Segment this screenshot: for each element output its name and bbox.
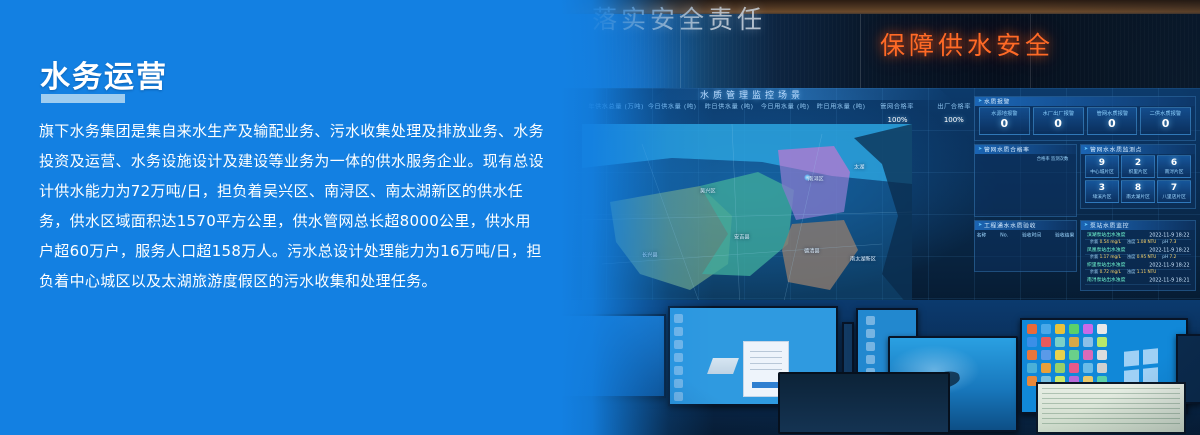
log-time: 2022-11-9 18:22: [1149, 247, 1189, 253]
log-metric: 浊度 1.08 NTU: [1127, 239, 1157, 245]
kpi-item: 今日供水量 (吨): [646, 104, 698, 124]
led-slogan-right: 保障供水安全: [880, 26, 1054, 62]
app-icon: [1069, 337, 1079, 347]
log-time: 2022-11-9 18:22: [1149, 232, 1189, 238]
point-label: 八里店片区: [1155, 193, 1193, 200]
app-icon: [674, 379, 683, 388]
log-metric: 余氯 0.72 mg/L: [1090, 269, 1121, 275]
dashboard-panel-stack: ➤ 水质报警 水源地报警 0 水厂出厂报警 0 管网水质报警: [974, 96, 1196, 291]
alarm-card[interactable]: 水厂出厂报警 0: [1033, 107, 1084, 135]
panel-header: ➤ 管网水质合格率: [975, 145, 1076, 154]
column-header: 验收时间: [1022, 232, 1041, 239]
title-underline-rule: [41, 94, 125, 103]
app-icon: [866, 329, 875, 338]
laptop-spreadsheet-screen: [1036, 382, 1186, 434]
page-title: 水务运营: [40, 52, 168, 96]
app-icon: [1097, 337, 1107, 347]
point-label: 南太湖片区: [1119, 193, 1157, 200]
folder-icon: [707, 358, 739, 374]
panel-column-left: ➤ 管网水质合格率 合格率 监测次数: [974, 144, 1077, 217]
app-icon: [1083, 337, 1093, 347]
app-icon: [1069, 324, 1079, 334]
description-text: 旗下水务集团是集自来水生产及输配业务、污水收集处理及排放业务、水务投资及运营、水…: [39, 116, 544, 296]
kpi-value: 100%: [928, 116, 980, 124]
log-name: 滨湖泵站出水浊度: [1087, 231, 1125, 238]
log-metric: pH 7.3: [1162, 239, 1176, 245]
map-label-region: 吴兴区: [700, 187, 716, 195]
map-label-region: 安吉县: [734, 233, 750, 241]
app-icon: [1069, 363, 1079, 373]
app-icon: [674, 353, 683, 362]
point-count: 6: [1158, 158, 1190, 169]
map-label-region: 南太湖新区: [850, 255, 876, 263]
app-icon: [674, 314, 683, 323]
app-icon: [866, 355, 875, 364]
monitoring-point-grid: 9 中心城片区 2 织里片区 6 南浔片区: [1085, 155, 1191, 203]
log-metric: 浊度 1.11 NTU: [1127, 269, 1157, 275]
kpi-item: 出厂合格率 100%: [928, 104, 980, 124]
panel-column-right: ➤ 泵站水质监控 滨湖泵站出水浊度 2022-11-9 18:22: [1080, 220, 1196, 291]
log-name: 织里泵站出水浊度: [1087, 261, 1125, 268]
alarm-card-row: 水源地报警 0 水厂出厂报警 0 管网水质报警 0 二供水质报警: [979, 107, 1191, 135]
operator-desk-monitors: [560, 300, 1200, 435]
map-label-region: 德清县: [804, 247, 820, 255]
panel-pass-rate: ➤ 管网水质合格率 合格率 监测次数: [974, 144, 1077, 217]
text-panel: 水务运营 旗下水务集团是集自来水生产及输配业务、污水收集处理及排放业务、水务投资…: [0, 0, 600, 435]
kpi-strip: 年供水总量 (万吨) 今日供水量 (吨) 昨日供水量 (吨) 今日用水量 (吨)…: [590, 104, 980, 124]
app-icon: [1041, 363, 1051, 373]
panel-acceptance: ➤ 工程通水水质验收 名称 No. 验收时间 验收结果: [974, 220, 1077, 272]
panel-header: ➤ 泵站水质监控: [1081, 221, 1195, 230]
app-icon: [1027, 337, 1037, 347]
app-icon: [866, 342, 875, 351]
pump-log-entry[interactable]: 滨湖泵站出水浊度 2022-11-9 18:22 余氯 0.54 mg/L 浊度…: [1085, 231, 1191, 246]
map-label-region: 太湖: [854, 163, 864, 171]
panel-middle-row: ➤ 管网水质合格率 合格率 监测次数 ➤ 管网水水质监: [974, 144, 1196, 217]
desktop-icon-column: [674, 314, 683, 406]
point-label: 织里片区: [1119, 168, 1157, 175]
log-metric: 余氯 0.54 mg/L: [1090, 239, 1121, 245]
pass-rate-chart: 合格率 监测次数: [979, 155, 1072, 211]
app-icon: [1041, 324, 1051, 334]
app-icon: [674, 327, 683, 336]
alarm-card-value: 0: [1142, 117, 1189, 131]
panel-bottom-row: ➤ 工程通水水质验收 名称 No. 验收时间 验收结果: [974, 220, 1196, 291]
monitoring-point-cell[interactable]: 7 八里店片区: [1157, 180, 1191, 203]
app-icon: [1097, 324, 1107, 334]
app-icon: [1055, 324, 1065, 334]
chevron-right-icon: ➤: [978, 223, 982, 228]
monitoring-point-cell[interactable]: 8 南太湖片区: [1121, 180, 1155, 203]
pump-log-entry[interactable]: 凤凰泵站出水浊度 2022-11-9 18:22 余氯 1.17 mg/L 浊度…: [1085, 246, 1191, 261]
panel-title: 工程通水水质验收: [984, 222, 1036, 230]
panel-title: 管网水质合格率: [984, 146, 1030, 154]
alarm-card[interactable]: 水源地报警 0: [979, 107, 1030, 135]
map-svg: [582, 124, 912, 310]
alarm-card-value: 0: [1089, 117, 1136, 131]
panel-monitoring-points: ➤ 管网水水质监测点 9 中心城片区 2 织里片区: [1080, 144, 1196, 209]
panel-title: 管网水水质监测点: [1090, 146, 1142, 154]
alarm-card-label: 水厂出厂报警: [1030, 110, 1087, 117]
panel-water-quality-alarm: ➤ 水质报警 水源地报警 0 水厂出厂报警 0 管网水质报警: [974, 96, 1196, 141]
app-icon: [1027, 350, 1037, 360]
point-count: 8: [1122, 183, 1154, 194]
kpi-item: 今日用水量 (吨): [759, 104, 811, 124]
column-header: No.: [1000, 232, 1008, 239]
point-count: 2: [1122, 158, 1154, 169]
kpi-item: 昨日供水量 (吨): [703, 104, 755, 124]
chevron-right-icon: ➤: [1084, 147, 1088, 152]
point-label: 中心城片区: [1083, 168, 1121, 175]
point-label: 南浔片区: [1155, 168, 1193, 175]
app-icon: [1027, 363, 1037, 373]
map-label-region: 长兴县: [642, 251, 658, 259]
water-quality-dashboard: 水质管理监控场景 年供水总量 (万吨) 今日供水量 (吨) 昨日供水量 (吨) …: [560, 88, 1200, 313]
dashboard-title: 水质管理监控场景: [700, 88, 804, 101]
panel-column-left: ➤ 工程通水水质验收 名称 No. 验收时间 验收结果: [974, 220, 1077, 291]
app-icon: [1083, 350, 1093, 360]
monitoring-point-cell[interactable]: 3 埭溪片区: [1085, 180, 1119, 203]
alarm-card-label: 二供水质报警: [1137, 110, 1194, 117]
log-time: 2022-11-9 18:22: [1149, 262, 1189, 268]
log-time: 2022-11-9 18:21: [1149, 277, 1189, 283]
pump-log-entry[interactable]: 织里泵站出水浊度 2022-11-9 18:22 余氯 0.72 mg/L 浊度…: [1085, 261, 1191, 276]
monitoring-point-cell[interactable]: 6 南浔片区: [1157, 155, 1191, 178]
pump-log-entry[interactable]: 南浔泵站出水浊度 2022-11-9 18:21: [1085, 276, 1191, 285]
district-map: 长兴县 安吉县 德清县 南浔区 吴兴区 太湖 南太湖新区: [582, 124, 912, 310]
point-count: 3: [1086, 183, 1118, 194]
chart-legend: 合格率 监测次数: [1036, 157, 1068, 163]
chevron-right-icon: ➤: [978, 99, 982, 104]
kpi-item: 管网合格率 100%: [871, 104, 923, 124]
monitoring-point-cell[interactable]: 2 织里片区: [1121, 155, 1155, 178]
app-icon: [1041, 350, 1051, 360]
kpi-item: 昨日用水量 (吨): [815, 104, 867, 124]
app-icon: [1055, 363, 1065, 373]
panel-header: ➤ 管网水水质监测点: [1081, 145, 1195, 154]
control-room-photo: 落实安全责任 保障供水安全 水质管理监控场景 年供水总量 (万吨) 今日供水量 …: [560, 0, 1200, 435]
panel-header: ➤ 水质报警: [975, 97, 1195, 106]
app-icon: [674, 392, 683, 401]
app-icon: [1083, 363, 1093, 373]
column-header: 验收结果: [1055, 232, 1074, 239]
app-icon: [1041, 337, 1051, 347]
chevron-right-icon: ➤: [1084, 223, 1088, 228]
app-icon: [674, 405, 683, 406]
app-icon: [1069, 350, 1079, 360]
panel-header: ➤ 工程通水水质验收: [975, 221, 1076, 230]
alarm-card-label: 管网水质报警: [1083, 110, 1140, 117]
log-name: 凤凰泵站出水浊度: [1087, 246, 1125, 253]
panel-column-right: ➤ 管网水水质监测点 9 中心城片区 2 织里片区: [1080, 144, 1196, 217]
point-count: 9: [1086, 158, 1118, 169]
water-operations-banner: 落实安全责任 保障供水安全 水质管理监控场景 年供水总量 (万吨) 今日供水量 …: [0, 0, 1200, 435]
app-icon: [1083, 324, 1093, 334]
log-metric: 余氯 1.17 mg/L: [1090, 254, 1121, 260]
log-name: 南浔泵站出水浊度: [1087, 276, 1125, 283]
alarm-card-value: 0: [1035, 117, 1082, 131]
laptop-closed: [778, 372, 950, 434]
chevron-right-icon: ➤: [978, 147, 982, 152]
panel-title: 泵站水质监控: [1090, 222, 1129, 230]
pump-log-list: 滨湖泵站出水浊度 2022-11-9 18:22 余氯 0.54 mg/L 浊度…: [1085, 231, 1191, 285]
panel-title: 水质报警: [984, 98, 1010, 106]
description-paragraph: 旗下水务集团是集自来水生产及输配业务、污水收集处理及排放业务、水务投资及运营、水…: [39, 116, 544, 296]
app-icon: [674, 340, 683, 349]
panel-pump-monitoring: ➤ 泵站水质监控 滨湖泵站出水浊度 2022-11-9 18:22: [1080, 220, 1196, 291]
acceptance-table-header: 名称 No. 验收时间 验收结果: [970, 230, 1082, 238]
windows-logo-icon: [1124, 348, 1158, 386]
kpi-value: 100%: [871, 116, 923, 124]
desktop-icon-grid: [1027, 324, 1109, 386]
log-metric: 浊度 0.95 NTU: [1127, 254, 1157, 260]
app-icon: [1097, 350, 1107, 360]
app-icon: [1097, 363, 1107, 373]
alarm-card[interactable]: 二供水质报警 0: [1140, 107, 1191, 135]
column-header: 名称: [977, 232, 987, 239]
log-metric: pH 7.2: [1162, 254, 1176, 260]
map-label-region: 南浔区: [808, 175, 824, 183]
app-icon: [1055, 337, 1065, 347]
app-icon: [866, 316, 875, 325]
point-count: 7: [1158, 183, 1190, 194]
point-label: 埭溪片区: [1083, 193, 1121, 200]
alarm-card-label: 水源地报警: [976, 110, 1033, 117]
monitoring-point-cell[interactable]: 9 中心城片区: [1085, 155, 1119, 178]
alarm-card-value: 0: [981, 117, 1028, 131]
alarm-card[interactable]: 管网水质报警 0: [1087, 107, 1138, 135]
app-icon: [1055, 350, 1065, 360]
monitor-narrow: [842, 322, 854, 374]
app-icon: [674, 366, 683, 375]
app-icon: [1027, 324, 1037, 334]
